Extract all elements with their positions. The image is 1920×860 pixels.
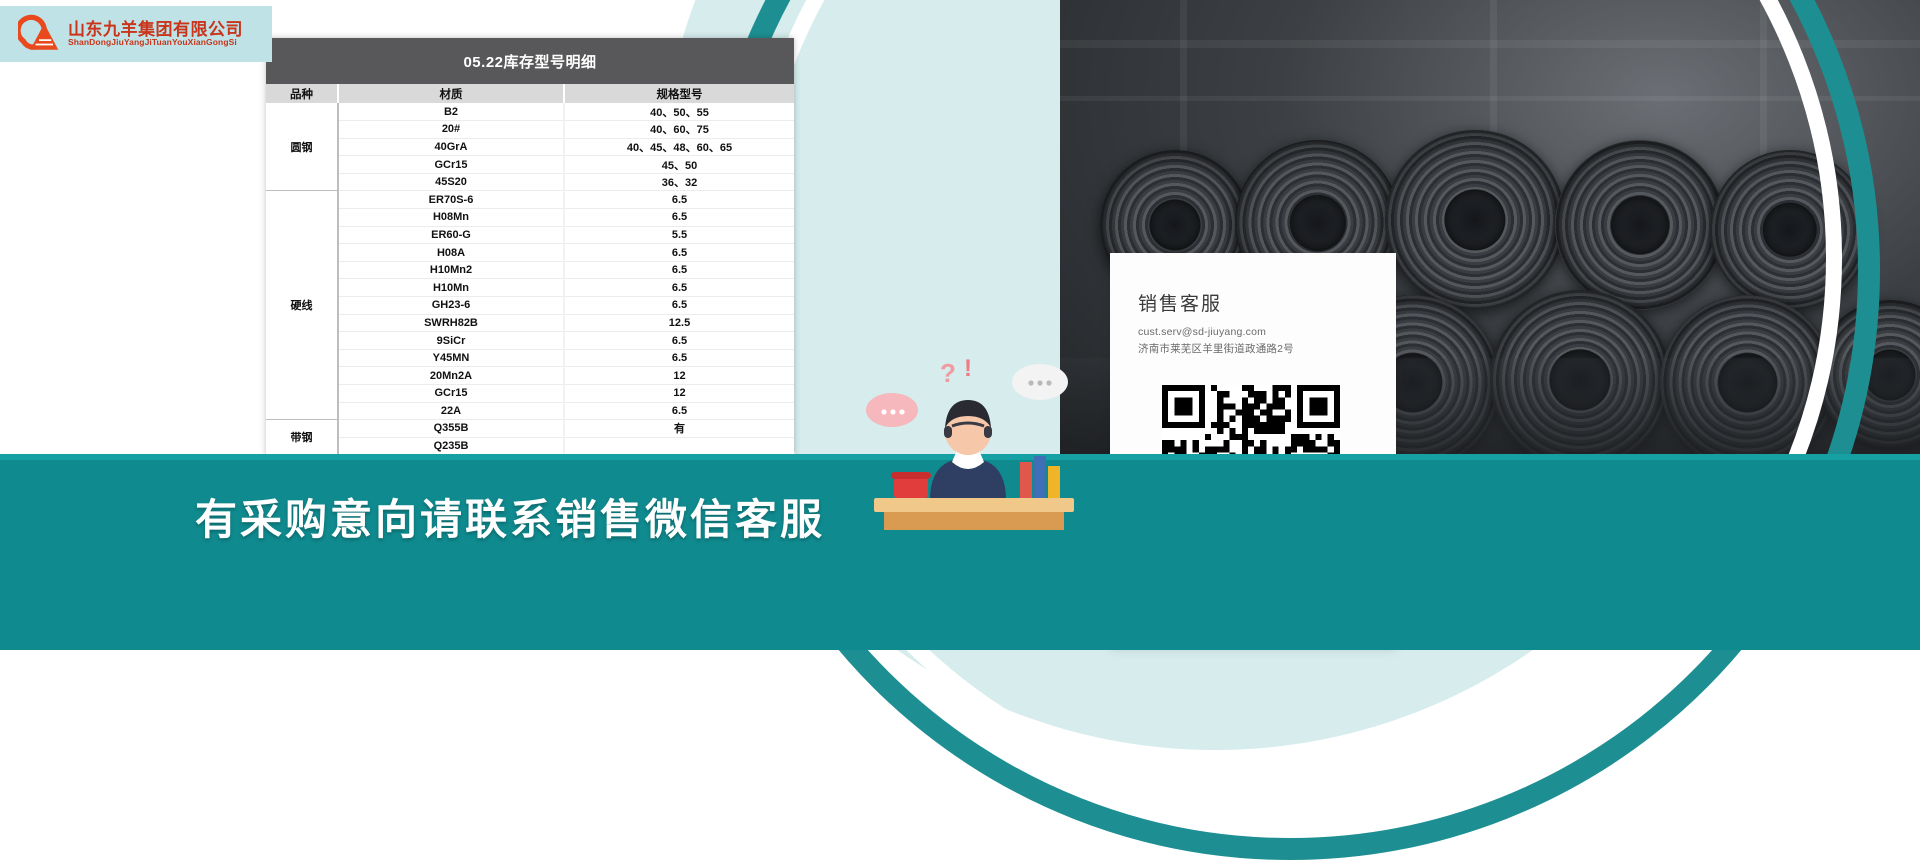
banner-text: 有采购意向请联系销售微信客服 xyxy=(195,486,825,547)
svg-text:!: ! xyxy=(964,355,972,382)
cell-spec: 有 xyxy=(564,420,794,438)
svg-text:?: ? xyxy=(940,358,956,388)
contact-email: cust.serv@sd-jiuyang.com xyxy=(1138,326,1368,338)
cell-material: 20# xyxy=(338,121,564,139)
cell-spec: 6.5 xyxy=(564,261,794,279)
brand-header: 山东九羊集团有限公司 ShanDongJiuYangJiTuanYouXianG… xyxy=(0,6,272,62)
cell-spec: 36、32 xyxy=(564,173,794,191)
cell-material: H08A xyxy=(338,244,564,262)
cell-material: GCr15 xyxy=(338,156,564,174)
cell-category: 硬线 xyxy=(266,191,338,420)
cell-spec: 6.5 xyxy=(564,244,794,262)
cell-material: H08Mn xyxy=(338,209,564,227)
desk-icon xyxy=(874,498,1074,512)
cell-spec: 6.5 xyxy=(564,209,794,227)
cell-material: SWRH82B xyxy=(338,314,564,332)
table-row: GCr1512 xyxy=(266,385,794,403)
table-row: Y45MN6.5 xyxy=(266,349,794,367)
contact-title: 销售客服 xyxy=(1138,289,1368,316)
cell-material: Q235B xyxy=(338,437,564,455)
cell-spec: 40、50、55 xyxy=(564,103,794,121)
cell-spec: 12 xyxy=(564,367,794,385)
cell-category: 圆钢 xyxy=(266,103,338,191)
cell-material: 40GrA xyxy=(338,138,564,156)
contact-address: 济南市莱芜区羊里街道政通路2号 xyxy=(1138,341,1368,356)
table-row: H08A6.5 xyxy=(266,244,794,262)
table-row: GH23-66.5 xyxy=(266,297,794,315)
cell-spec: 45、50 xyxy=(564,156,794,174)
brand-name-en: ShanDongJiuYangJiTuanYouXianGongSi xyxy=(68,38,243,47)
brand-name-cn: 山东九羊集团有限公司 xyxy=(68,21,243,39)
cell-spec: 6.5 xyxy=(564,191,794,209)
table-row: 圆钢B240、50、55 xyxy=(266,103,794,121)
table-row: 45S2036、32 xyxy=(266,173,794,191)
cell-spec: 40、45、48、60、65 xyxy=(564,138,794,156)
cell-spec: 6.5 xyxy=(564,349,794,367)
inventory-table-card: 05.22库存型号明细 品种 材质 规格型号 圆钢B240、50、5520#40… xyxy=(266,38,794,456)
cell-material: Q355B xyxy=(338,420,564,438)
desk-phone-icon xyxy=(894,478,928,498)
table-row: 20Mn2A12 xyxy=(266,367,794,385)
cell-material: Y45MN xyxy=(338,349,564,367)
cell-spec: 12 xyxy=(564,385,794,403)
cell-material: 20Mn2A xyxy=(338,367,564,385)
table-row: 9SiCr6.5 xyxy=(266,332,794,350)
cell-material: ER60-G xyxy=(338,226,564,244)
table-row: 硬线ER70S-66.5 xyxy=(266,191,794,209)
table-title: 05.22库存型号明细 xyxy=(266,38,794,84)
table-row: 带钢Q355B有 xyxy=(266,420,794,438)
cell-spec: 6.5 xyxy=(564,297,794,315)
table-row: SWRH82B12.5 xyxy=(266,314,794,332)
column-header-spec: 规格型号 xyxy=(564,84,794,103)
table-body: 圆钢B240、50、5520#40、60、7540GrA40、45、48、60、… xyxy=(266,103,794,455)
cell-material: GH23-6 xyxy=(338,297,564,315)
cell-material: 45S20 xyxy=(338,173,564,191)
table-row: 22A6.5 xyxy=(266,402,794,420)
cell-spec: 6.5 xyxy=(564,332,794,350)
table-row: ER60-G5.5 xyxy=(266,226,794,244)
cell-spec: 40、60、75 xyxy=(564,121,794,139)
table-row: H10Mn26.5 xyxy=(266,261,794,279)
cell-material: B2 xyxy=(338,103,564,121)
cell-spec: 6.5 xyxy=(564,279,794,297)
table-row: Q235B xyxy=(266,437,794,455)
cell-material: H10Mn xyxy=(338,279,564,297)
cell-spec: 12.5 xyxy=(564,314,794,332)
column-header-category: 品种 xyxy=(266,84,338,103)
cell-spec: 5.5 xyxy=(564,226,794,244)
cell-material: ER70S-6 xyxy=(338,191,564,209)
cell-material: 22A xyxy=(338,402,564,420)
cell-material: 9SiCr xyxy=(338,332,564,350)
cell-spec: 6.5 xyxy=(564,402,794,420)
table-row: H10Mn6.5 xyxy=(266,279,794,297)
table-row: 20#40、60、75 xyxy=(266,121,794,139)
cell-material: H10Mn2 xyxy=(338,261,564,279)
table-header-row: 品种 材质 规格型号 xyxy=(266,84,794,103)
inventory-table: 品种 材质 规格型号 圆钢B240、50、5520#40、60、7540GrA4… xyxy=(266,84,794,455)
table-row: GCr1545、50 xyxy=(266,156,794,174)
jiuyang-logo-icon xyxy=(18,14,60,54)
table-row: H08Mn6.5 xyxy=(266,209,794,227)
customer-service-operator-icon: ? ! xyxy=(860,350,1090,530)
column-header-material: 材质 xyxy=(338,84,564,103)
cell-spec xyxy=(564,437,794,455)
cell-material: GCr15 xyxy=(338,385,564,403)
cell-category: 带钢 xyxy=(266,420,338,455)
table-row: 40GrA40、45、48、60、65 xyxy=(266,138,794,156)
